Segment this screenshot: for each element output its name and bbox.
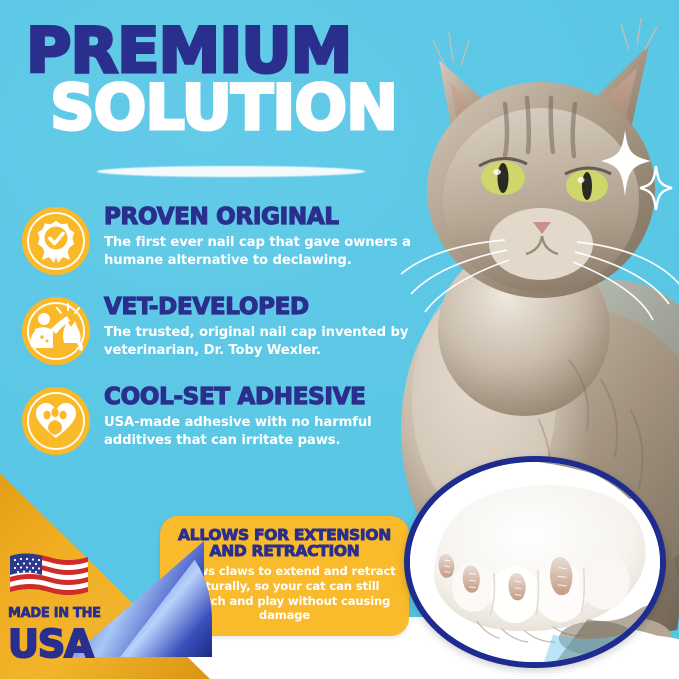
feature-description: The first ever nail cap that gave owners… <box>104 234 422 270</box>
white-swoosh-underline <box>97 166 365 177</box>
feature-list: PROVEN ORIGINAL The first ever nail cap … <box>22 205 422 475</box>
corner-peel-badge: MADE IN THE USA <box>0 473 210 679</box>
sparkle-group <box>599 126 673 216</box>
feature-title: COOL-SET ADHESIVE <box>104 385 422 409</box>
feature-item-proven-original: PROVEN ORIGINAL The first ever nail cap … <box>22 205 422 275</box>
page-title: PREMIUM SOLUTION <box>26 22 446 139</box>
heart-paw-icon <box>22 387 90 455</box>
award-ribbon-check-icon <box>22 207 90 275</box>
infographic-canvas: PREMIUM SOLUTION PROVEN ORIGINAL The fi <box>0 0 679 679</box>
feature-description: USA-made adhesive with no harmful additi… <box>104 414 422 450</box>
feature-title: PROVEN ORIGINAL <box>104 205 422 229</box>
vet-high-five-cat-icon <box>22 297 90 365</box>
feature-item-cool-set-adhesive: COOL-SET ADHESIVE USA-made adhesive with… <box>22 385 422 455</box>
title-line-solution: SOLUTION <box>50 78 446 139</box>
usa-label: USA <box>8 625 93 663</box>
usa-flag-icon <box>10 553 88 596</box>
made-in-the-label: MADE IN THE <box>8 606 101 621</box>
feature-item-vet-developed: VET-DEVELOPED The trusted, original nail… <box>22 295 422 365</box>
cat-paw-with-nail-caps-closeup <box>404 456 666 668</box>
sparkle-star-outline-icon <box>640 166 672 210</box>
feature-title: VET-DEVELOPED <box>104 295 422 319</box>
feature-description: The trusted, original nail cap invented … <box>104 324 422 360</box>
